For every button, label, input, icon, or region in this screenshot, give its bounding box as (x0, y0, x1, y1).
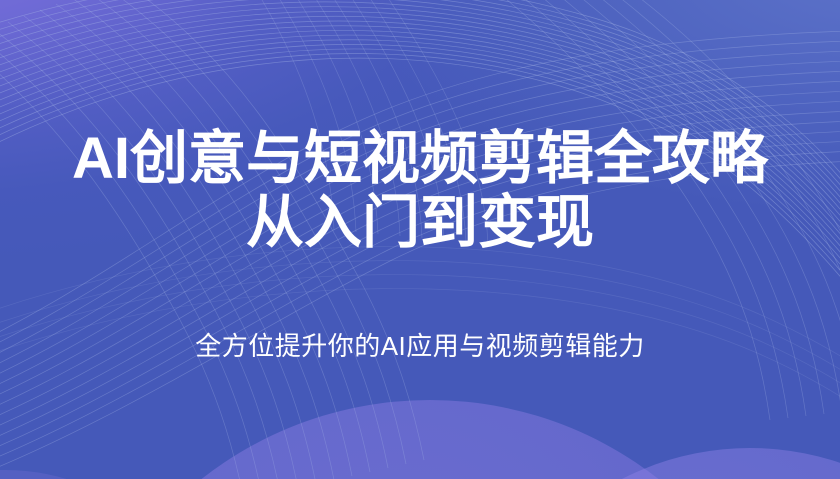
banner-content: AI创意与短视频剪辑全攻略 从入门到变现 全方位提升你的AI应用与视频剪辑能力 (0, 0, 840, 479)
page-title-line-2: 从入门到变现 (0, 192, 840, 254)
course-cover-banner: AI创意与短视频剪辑全攻略 从入门到变现 全方位提升你的AI应用与视频剪辑能力 (0, 0, 840, 479)
page-subtitle: 全方位提升你的AI应用与视频剪辑能力 (0, 326, 840, 363)
page-title-line-1: AI创意与短视频剪辑全攻略 (0, 128, 840, 190)
